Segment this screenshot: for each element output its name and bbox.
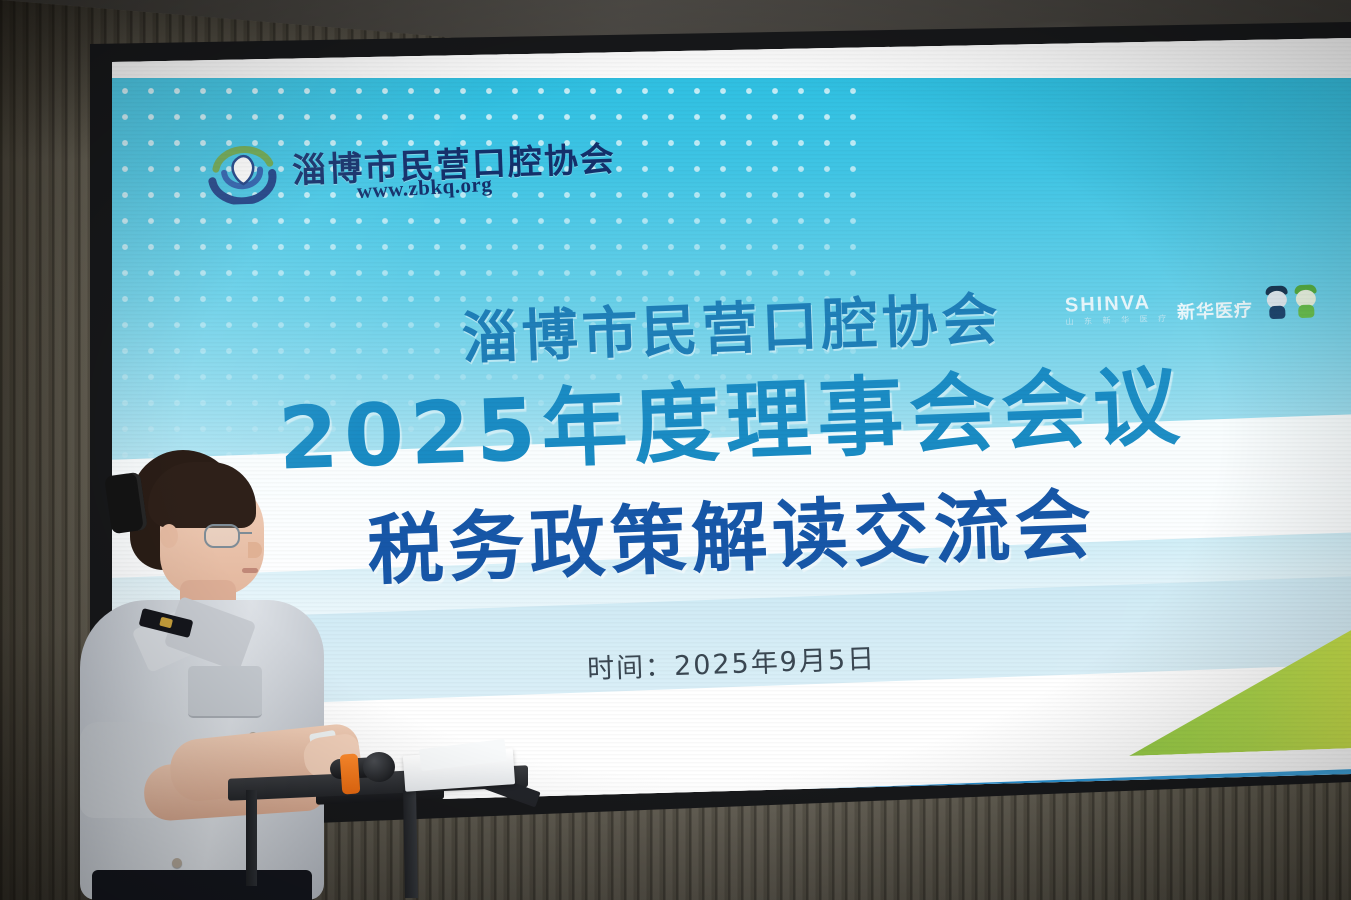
tooth-swirl-logo-icon [203, 141, 281, 206]
presenter-eyeglasses-temple [238, 532, 252, 534]
presenter-nose [248, 542, 262, 558]
presenter-figure [52, 440, 382, 900]
conference-room-scene: 淄博市民营口腔协会 www.zbkq.org SHINVA 山 东 新 华 医 … [0, 0, 1351, 900]
podium-leg [403, 790, 418, 898]
presenter-skirt [92, 870, 312, 900]
presenter-shirt-pocket [188, 666, 262, 718]
presenter-hair-front [148, 462, 256, 528]
podium-leg [246, 790, 257, 886]
presenter-shirt-button [172, 858, 182, 868]
association-name-block: 淄博市民营口腔协会 www.zbkq.org [291, 142, 616, 188]
presenter-mouth [242, 568, 258, 573]
microphone-head-icon[interactable] [363, 752, 395, 782]
microphone-grip[interactable] [340, 753, 361, 794]
presenter-eyeglasses [204, 524, 240, 548]
presenter-ear [160, 524, 178, 548]
